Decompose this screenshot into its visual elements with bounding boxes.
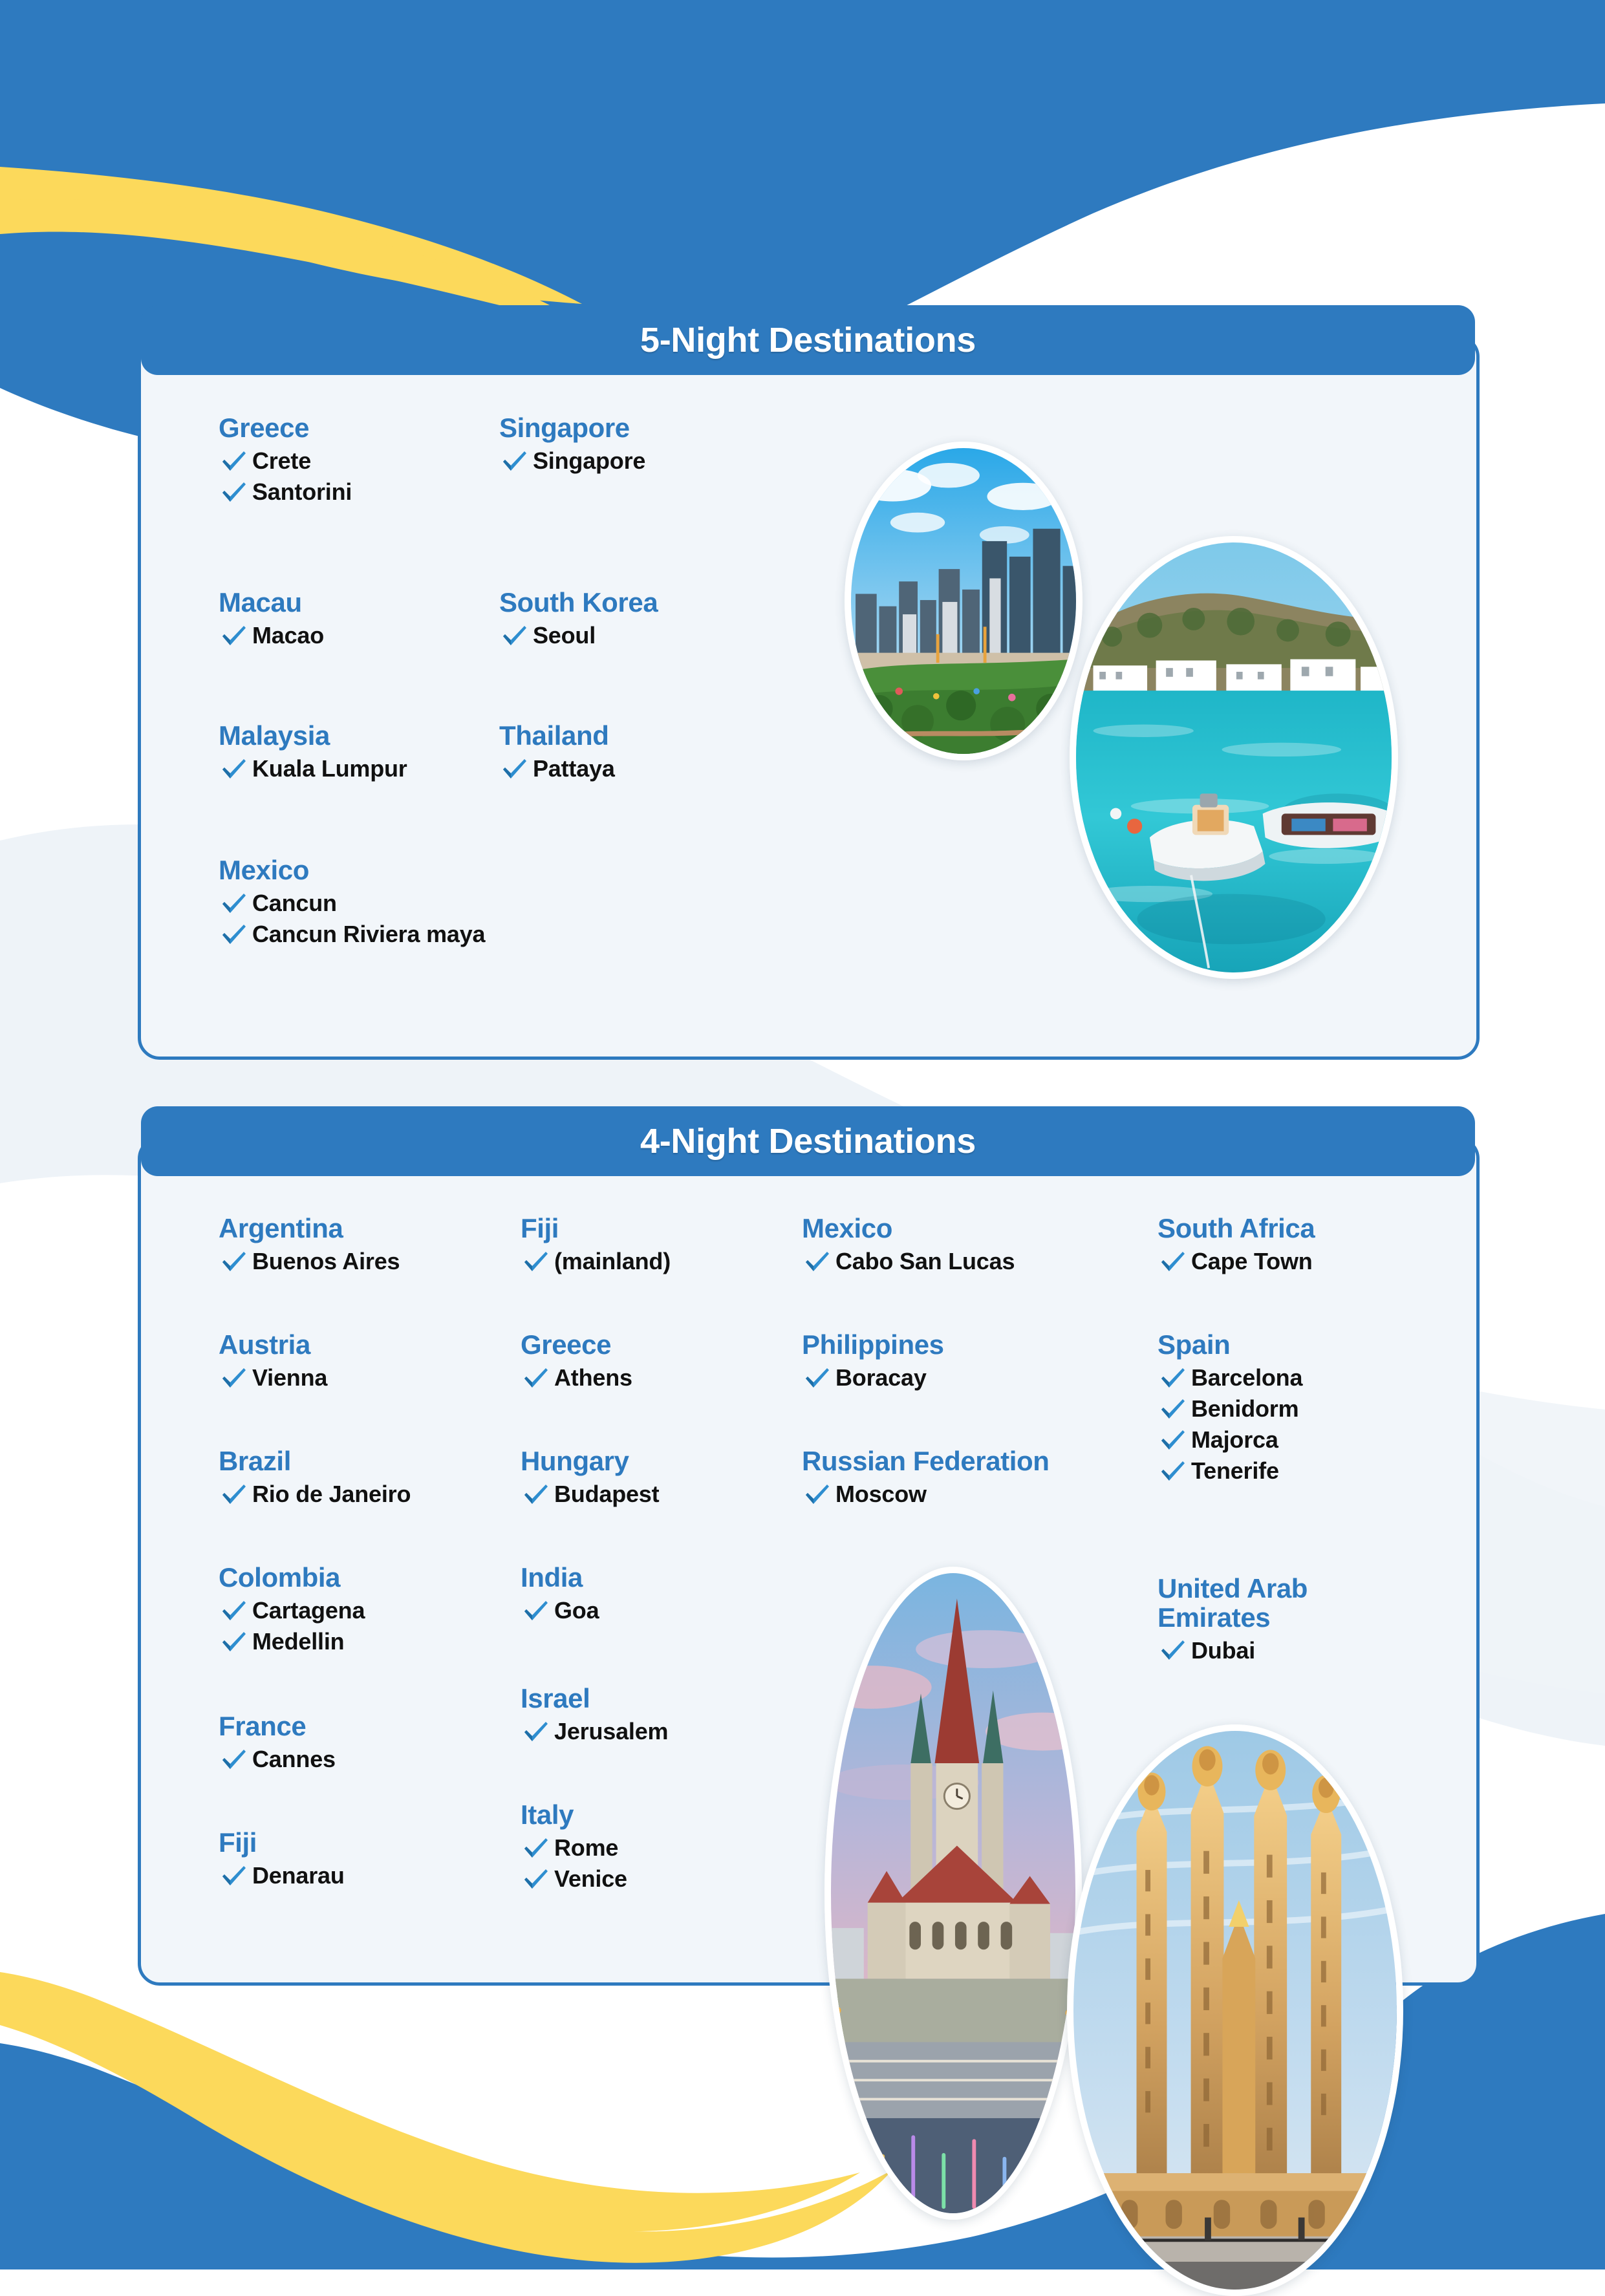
group-thailand: Thailand Pattaya — [499, 722, 615, 786]
country-name: South Africa — [1158, 1214, 1315, 1243]
city-item[interactable]: Crete — [219, 447, 352, 477]
city-name: Seoul — [533, 622, 596, 649]
city-name: Cape Town — [1191, 1248, 1313, 1275]
group-malaysia: Malaysia Kuala Lumpur — [219, 722, 407, 786]
group-india: India Goa — [521, 1563, 599, 1627]
check-icon — [219, 1860, 248, 1890]
header-4night-destinations: 4-Night Destinations — [141, 1106, 1475, 1176]
city-item[interactable]: Denarau — [219, 1861, 345, 1891]
country-name: Austria — [219, 1331, 327, 1360]
country-name: Thailand — [499, 722, 615, 751]
city-item[interactable]: Cabo San Lucas — [802, 1247, 1015, 1277]
city-item[interactable]: Pattaya — [499, 755, 615, 784]
check-icon — [521, 1362, 550, 1392]
check-icon — [219, 888, 248, 917]
check-icon — [521, 1595, 550, 1625]
group-united-arab-emirates: United Arab Emirates Dubai — [1158, 1574, 1416, 1667]
city-name: Venice — [554, 1865, 627, 1893]
header-5night-destinations: 5-Night Destinations — [141, 305, 1475, 375]
check-icon — [499, 620, 529, 650]
check-icon — [1158, 1246, 1187, 1276]
group-singapore: Singapore Singapore — [499, 414, 645, 478]
city-item[interactable]: Buenos Aires — [219, 1247, 400, 1277]
country-name: Malaysia — [219, 722, 407, 751]
check-icon — [219, 620, 248, 650]
group-south-korea: South Korea Seoul — [499, 588, 658, 652]
country-name: Fiji — [521, 1214, 671, 1243]
check-icon — [1158, 1393, 1187, 1423]
city-item[interactable]: Macao — [219, 621, 324, 651]
country-name: Spain — [1158, 1331, 1302, 1360]
city-name: Cannes — [252, 1746, 336, 1773]
city-name: Boracay — [835, 1364, 927, 1391]
city-item[interactable]: Medellin — [219, 1627, 365, 1657]
group-south-africa: South Africa Cape Town — [1158, 1214, 1315, 1278]
city-item[interactable]: Cartagena — [219, 1596, 365, 1626]
city-name: Pattaya — [533, 755, 615, 782]
city-name: Vienna — [252, 1364, 327, 1391]
singapore-skyline-photo — [845, 442, 1083, 760]
check-icon — [802, 1479, 832, 1508]
city-name: Crete — [252, 447, 311, 475]
check-icon — [219, 919, 248, 949]
check-icon — [219, 1626, 248, 1656]
group-fiji-denarau: Fiji Denarau — [219, 1829, 345, 1893]
city-item[interactable]: Benidorm — [1158, 1395, 1302, 1424]
country-name: South Korea — [499, 588, 658, 617]
city-item[interactable]: Vienna — [219, 1364, 327, 1393]
city-item[interactable]: Santorini — [219, 478, 352, 508]
city-name: Kuala Lumpur — [252, 755, 407, 782]
check-icon — [521, 1863, 550, 1893]
city-name: Rio de Janeiro — [252, 1481, 411, 1508]
check-icon — [219, 1246, 248, 1276]
city-name: Jerusalem — [554, 1718, 668, 1745]
group-austria: Austria Vienna — [219, 1331, 327, 1395]
check-icon — [1158, 1424, 1187, 1454]
check-icon — [219, 1595, 248, 1625]
group-spain: Spain Barcelona Benidorm Majorca Tenerif… — [1158, 1331, 1302, 1488]
city-item[interactable]: Cancun — [219, 889, 485, 919]
group-italy: Italy Rome Venice — [521, 1801, 627, 1896]
city-name: Majorca — [1191, 1426, 1278, 1454]
country-name: Hungary — [521, 1447, 659, 1476]
city-item[interactable]: Athens — [521, 1364, 632, 1393]
city-item[interactable]: Barcelona — [1158, 1364, 1302, 1393]
check-icon — [219, 477, 248, 506]
city-name: Santorini — [252, 478, 352, 506]
city-item[interactable]: Cannes — [219, 1745, 336, 1775]
city-name: Denarau — [252, 1862, 345, 1889]
check-icon — [802, 1246, 832, 1276]
country-name: Brazil — [219, 1447, 411, 1476]
group-macau: Macau Macao — [219, 588, 324, 652]
poster-canvas: 5-Night Destinations Greece Crete Santor… — [0, 0, 1605, 2269]
group-greece: Greece Crete Santorini — [219, 414, 352, 509]
city-name: Goa — [554, 1597, 599, 1624]
check-icon — [1158, 1362, 1187, 1392]
group-france: France Cannes — [219, 1712, 336, 1776]
city-item[interactable]: Singapore — [499, 447, 645, 477]
city-item[interactable]: Seoul — [499, 621, 658, 651]
group-colombia: Colombia Cartagena Medellin — [219, 1563, 365, 1658]
group-israel: Israel Jerusalem — [521, 1684, 668, 1748]
country-name: France — [219, 1712, 336, 1741]
city-item[interactable]: Boracay — [802, 1364, 944, 1393]
city-item[interactable]: Kuala Lumpur — [219, 755, 407, 784]
group-fiji-mainland: Fiji (mainland) — [521, 1214, 671, 1278]
city-item[interactable]: Budapest — [521, 1480, 659, 1510]
city-name: (mainland) — [554, 1248, 671, 1275]
check-icon — [219, 1362, 248, 1392]
country-name: Singapore — [499, 414, 645, 443]
city-name: Tenerife — [1191, 1457, 1279, 1485]
city-name: Benidorm — [1191, 1395, 1298, 1422]
country-name: Argentina — [219, 1214, 400, 1243]
city-name: Cartagena — [252, 1597, 365, 1624]
country-name: Mexico — [219, 856, 485, 885]
group-brazil: Brazil Rio de Janeiro — [219, 1447, 411, 1511]
country-name: United Arab Emirates — [1158, 1574, 1416, 1632]
city-item[interactable]: Dubai — [1158, 1636, 1416, 1666]
country-name: Macau — [219, 588, 324, 617]
group-mexico-5n: Mexico Cancun Cancun Riviera maya — [219, 856, 485, 951]
group-hungary: Hungary Budapest — [521, 1447, 659, 1511]
city-name: Dubai — [1191, 1637, 1255, 1664]
city-name: Buenos Aires — [252, 1248, 400, 1275]
group-russian-federation: Russian Federation Moscow — [802, 1447, 1050, 1511]
group-argentina: Argentina Buenos Aires — [219, 1214, 400, 1278]
city-name: Cancun Riviera maya — [252, 921, 485, 948]
city-item[interactable]: Majorca — [1158, 1426, 1302, 1455]
city-item[interactable]: Cape Town — [1158, 1247, 1315, 1277]
sagrada-familia-photo — [1067, 1724, 1403, 2296]
section-title-4night: 4-Night Destinations — [640, 1124, 976, 1159]
city-item[interactable]: Rome — [521, 1834, 627, 1863]
check-icon — [499, 445, 529, 475]
country-name: Greece — [521, 1331, 632, 1360]
city-name: Athens — [554, 1364, 632, 1391]
city-item[interactable]: Goa — [521, 1596, 599, 1626]
group-mexico-4n: Mexico Cabo San Lucas — [802, 1214, 1015, 1278]
city-name: Singapore — [533, 447, 645, 475]
check-icon — [521, 1832, 550, 1862]
country-name: Philippines — [802, 1331, 944, 1360]
check-icon — [219, 753, 248, 783]
country-name: Israel — [521, 1684, 668, 1713]
city-name: Cancun — [252, 890, 337, 917]
country-name: Russian Federation — [802, 1447, 1050, 1476]
group-philippines: Philippines Boracay — [802, 1331, 944, 1395]
check-icon — [219, 445, 248, 475]
city-name: Moscow — [835, 1481, 927, 1508]
city-item[interactable]: Cancun Riviera maya — [219, 920, 485, 950]
city-item[interactable]: Jerusalem — [521, 1717, 668, 1747]
check-icon — [802, 1362, 832, 1392]
country-name: India — [521, 1563, 599, 1593]
city-name: Budapest — [554, 1481, 659, 1508]
city-item[interactable]: Moscow — [802, 1480, 1050, 1510]
check-icon — [521, 1716, 550, 1746]
city-name: Cabo San Lucas — [835, 1248, 1015, 1275]
section-title-5night: 5-Night Destinations — [640, 323, 976, 358]
city-name: Barcelona — [1191, 1364, 1302, 1391]
turquoise-bay-boats-photo — [1070, 536, 1398, 979]
check-icon — [1158, 1635, 1187, 1664]
country-name: Mexico — [802, 1214, 1015, 1243]
city-item[interactable]: Tenerife — [1158, 1457, 1302, 1486]
city-name: Macao — [252, 622, 324, 649]
city-item[interactable]: Rio de Janeiro — [219, 1480, 411, 1510]
country-name: Greece — [219, 414, 352, 443]
check-icon — [219, 1744, 248, 1774]
check-icon — [521, 1246, 550, 1276]
city-name: Rome — [554, 1834, 618, 1861]
vienna-church-photo — [824, 1567, 1082, 2220]
city-item[interactable]: (mainland) — [521, 1247, 671, 1277]
group-greece-4n: Greece Athens — [521, 1331, 632, 1395]
country-name: Fiji — [219, 1829, 345, 1858]
city-name: Medellin — [252, 1628, 344, 1655]
check-icon — [1158, 1455, 1187, 1485]
check-icon — [219, 1479, 248, 1508]
city-item[interactable]: Venice — [521, 1865, 627, 1894]
country-name: Colombia — [219, 1563, 365, 1593]
check-icon — [499, 753, 529, 783]
check-icon — [521, 1479, 550, 1508]
country-name: Italy — [521, 1801, 627, 1830]
